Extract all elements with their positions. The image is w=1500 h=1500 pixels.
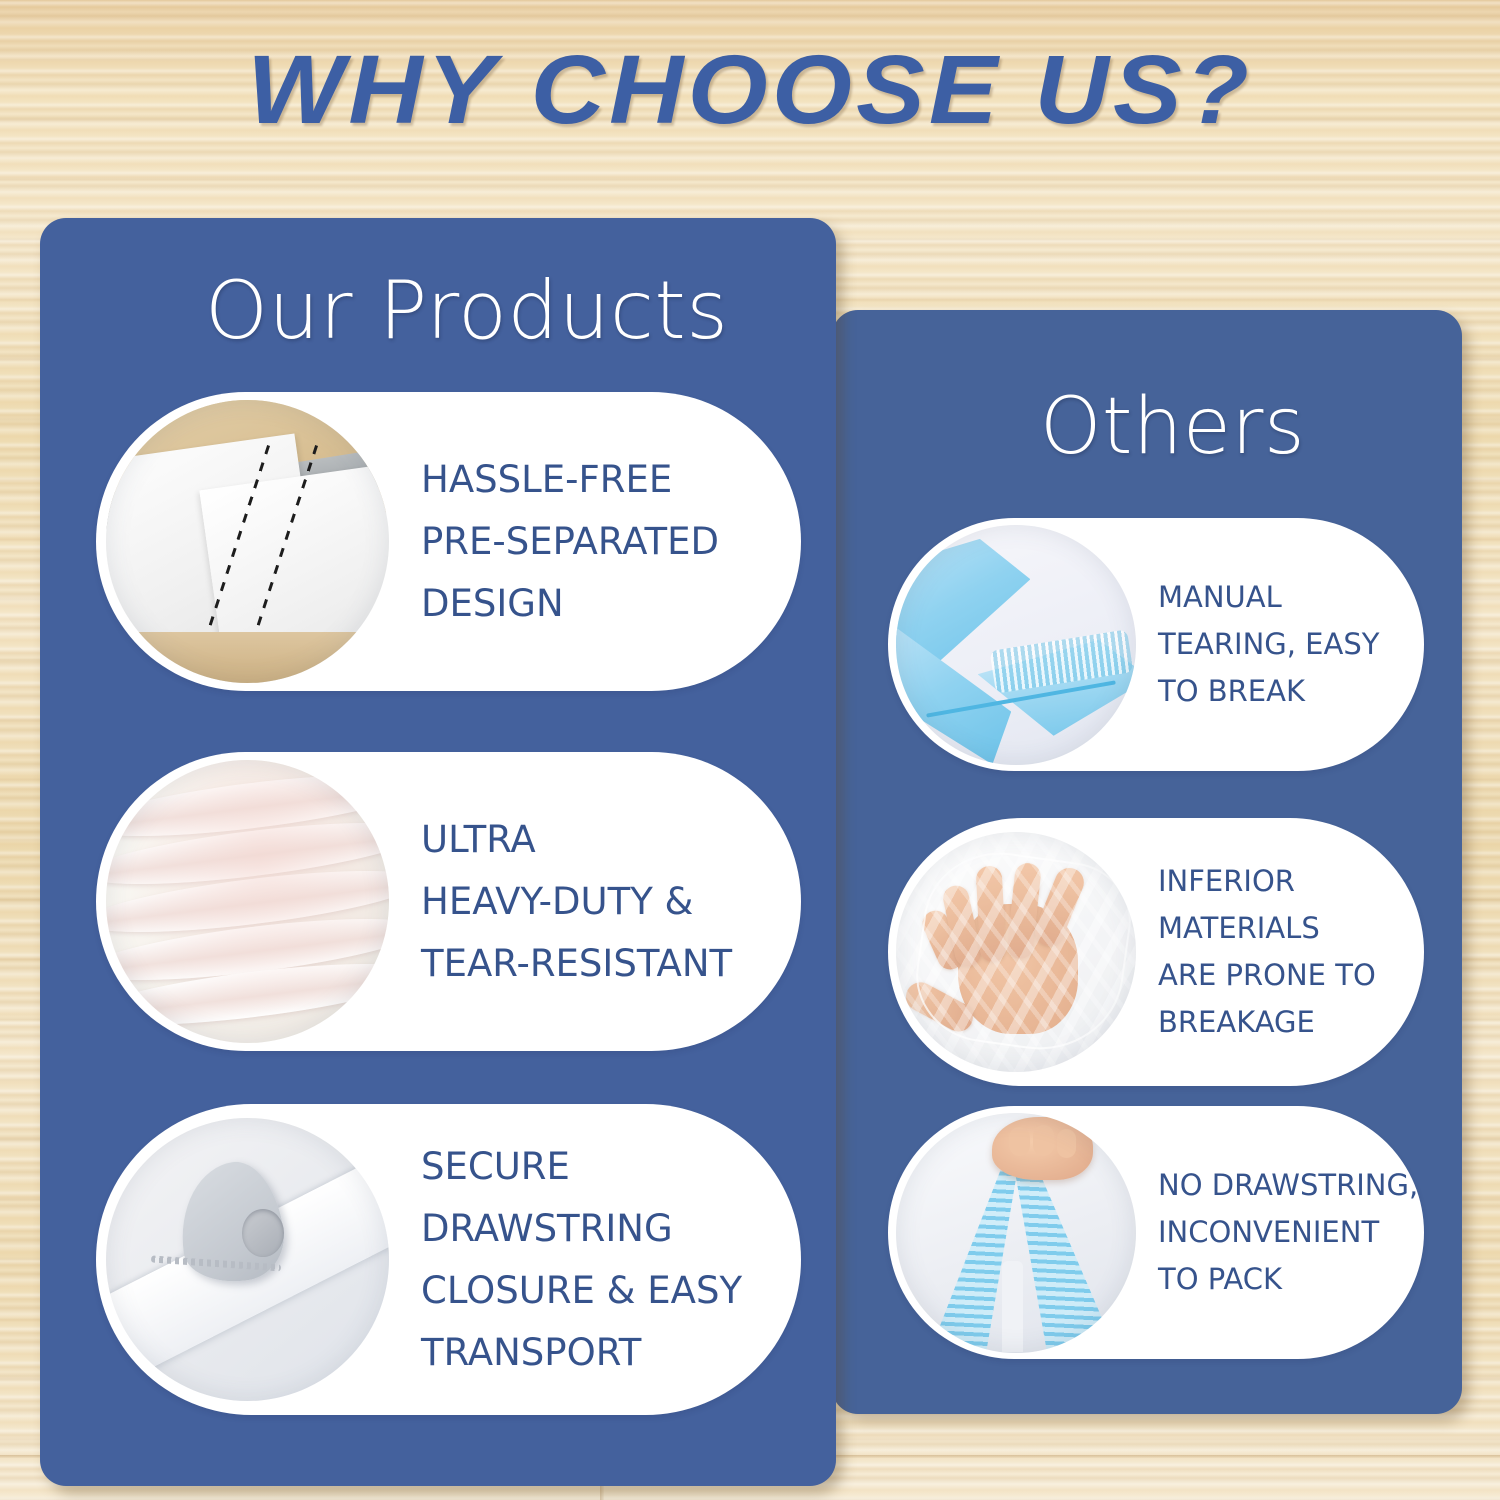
drawback-text: INFERIOR MATERIALS ARE PRONE TO BREAKAGE — [1158, 858, 1376, 1046]
page-title: WHY CHOOSE US? — [0, 34, 1500, 146]
stretched-plastic-film-photo — [106, 760, 389, 1043]
drawback-capsule: INFERIOR MATERIALS ARE PRONE TO BREAKAGE — [888, 818, 1424, 1086]
drawback-line: MANUAL — [1158, 574, 1379, 621]
others-item-3: NO DRAWSTRING, INCONVENIENT TO PACK — [888, 1106, 1424, 1359]
feature-text: SECURE DRAWSTRING CLOSURE & EASY TRANSPO… — [421, 1136, 742, 1384]
drawback-line: INFERIOR — [1158, 858, 1376, 905]
drawback-line: TO PACK — [1158, 1256, 1418, 1303]
our-products-item-3: SECURE DRAWSTRING CLOSURE & EASY TRANSPO… — [96, 1104, 801, 1415]
our-products-item-2: ULTRA HEAVY-DUTY & TEAR-RESISTANT — [96, 752, 801, 1051]
feature-capsule: SECURE DRAWSTRING CLOSURE & EASY TRANSPO… — [96, 1104, 801, 1415]
drawback-line: BREAKAGE — [1158, 999, 1376, 1046]
feature-line: ULTRA — [421, 809, 732, 871]
feature-line: TRANSPORT — [421, 1322, 742, 1384]
feature-capsule: HASSLE-FREE PRE-SEPARATED DESIGN — [96, 392, 801, 691]
drawback-line: INCONVENIENT — [1158, 1209, 1418, 1256]
drawback-line: NO DRAWSTRING, — [1158, 1162, 1418, 1209]
torn-blue-bag-photo — [896, 525, 1136, 765]
drawback-line: TO BREAK — [1158, 668, 1379, 715]
drawback-line: ARE PRONE TO — [1158, 952, 1376, 999]
feature-line: SECURE — [421, 1136, 742, 1198]
feature-text: ULTRA HEAVY-DUTY & TEAR-RESISTANT — [421, 809, 732, 995]
feature-line: DESIGN — [421, 573, 719, 635]
feature-text: HASSLE-FREE PRE-SEPARATED DESIGN — [421, 449, 719, 635]
others-item-1: MANUAL TEARING, EASY TO BREAK — [888, 518, 1424, 771]
drawback-capsule: MANUAL TEARING, EASY TO BREAK — [888, 518, 1424, 771]
drawstring-closure-closeup-photo — [106, 1118, 389, 1401]
drawback-text: NO DRAWSTRING, INCONVENIENT TO PACK — [1158, 1162, 1418, 1303]
feature-line: HASSLE-FREE — [421, 449, 719, 511]
our-products-heading: Our Products — [205, 264, 728, 357]
hand-behind-thin-film-photo — [896, 832, 1136, 1072]
feature-line: PRE-SEPARATED — [421, 511, 719, 573]
drawback-line: TEARING, EASY — [1158, 621, 1379, 668]
others-heading: Others — [1040, 382, 1305, 472]
our-products-item-1: HASSLE-FREE PRE-SEPARATED DESIGN — [96, 392, 801, 691]
feature-line: CLOSURE & EASY — [421, 1260, 742, 1322]
drawback-line: MATERIALS — [1158, 905, 1376, 952]
feature-line: TEAR-RESISTANT — [421, 933, 732, 995]
drawback-text: MANUAL TEARING, EASY TO BREAK — [1158, 574, 1379, 715]
white-perforated-trash-bags-photo — [106, 400, 389, 683]
others-item-2: INFERIOR MATERIALS ARE PRONE TO BREAKAGE — [888, 818, 1424, 1086]
feature-capsule: ULTRA HEAVY-DUTY & TEAR-RESISTANT — [96, 752, 801, 1051]
drawback-capsule: NO DRAWSTRING, INCONVENIENT TO PACK — [888, 1106, 1424, 1359]
feature-line: DRAWSTRING — [421, 1198, 742, 1260]
hand-holding-blue-bags-photo — [896, 1113, 1136, 1353]
feature-line: HEAVY-DUTY & — [421, 871, 732, 933]
